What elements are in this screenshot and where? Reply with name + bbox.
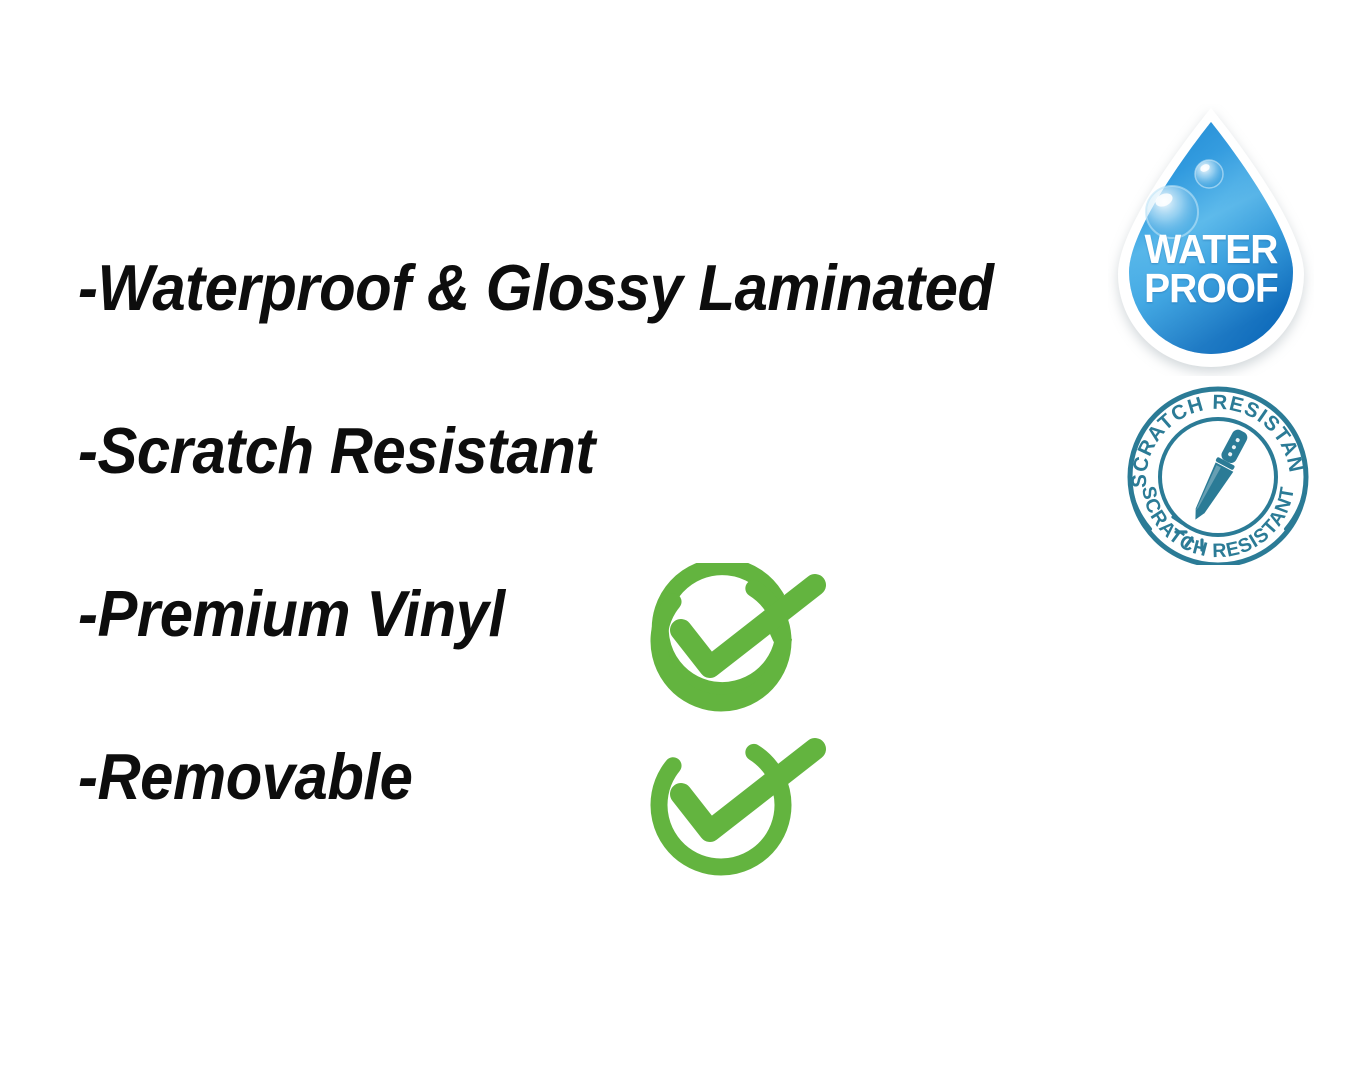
scratch-resistant-stamp-icon: SCRATCH RESISTANT SCRATCH RESISTANT — [1120, 383, 1316, 565]
list-item: -Scratch Resistant — [78, 415, 1098, 578]
check-circle-icon — [643, 563, 828, 718]
knife-icon — [1187, 427, 1252, 525]
product-feature-graphic: -Waterproof & Glossy Laminated -Scratch … — [0, 0, 1359, 1080]
check-circle-icon — [643, 727, 828, 882]
feature-label-scratch-resistant: -Scratch Resistant — [78, 415, 595, 487]
waterproof-badge: WATER PROOF — [1108, 104, 1314, 376]
list-item: -Removable — [78, 741, 1098, 904]
feature-label-waterproof-glossy: -Waterproof & Glossy Laminated — [78, 252, 993, 324]
list-item: -Premium Vinyl — [78, 578, 1098, 741]
feature-list: -Waterproof & Glossy Laminated -Scratch … — [78, 252, 1098, 904]
scratch-resistant-badge: SCRATCH RESISTANT SCRATCH RESISTANT — [1120, 383, 1316, 565]
list-item: -Waterproof & Glossy Laminated — [78, 252, 1098, 415]
water-drop-icon — [1108, 104, 1314, 376]
water-bubble-icon — [1146, 186, 1198, 238]
feature-label-premium-vinyl: -Premium Vinyl — [78, 578, 505, 650]
feature-label-removable: -Removable — [78, 741, 412, 813]
water-bubble-icon — [1195, 160, 1223, 188]
